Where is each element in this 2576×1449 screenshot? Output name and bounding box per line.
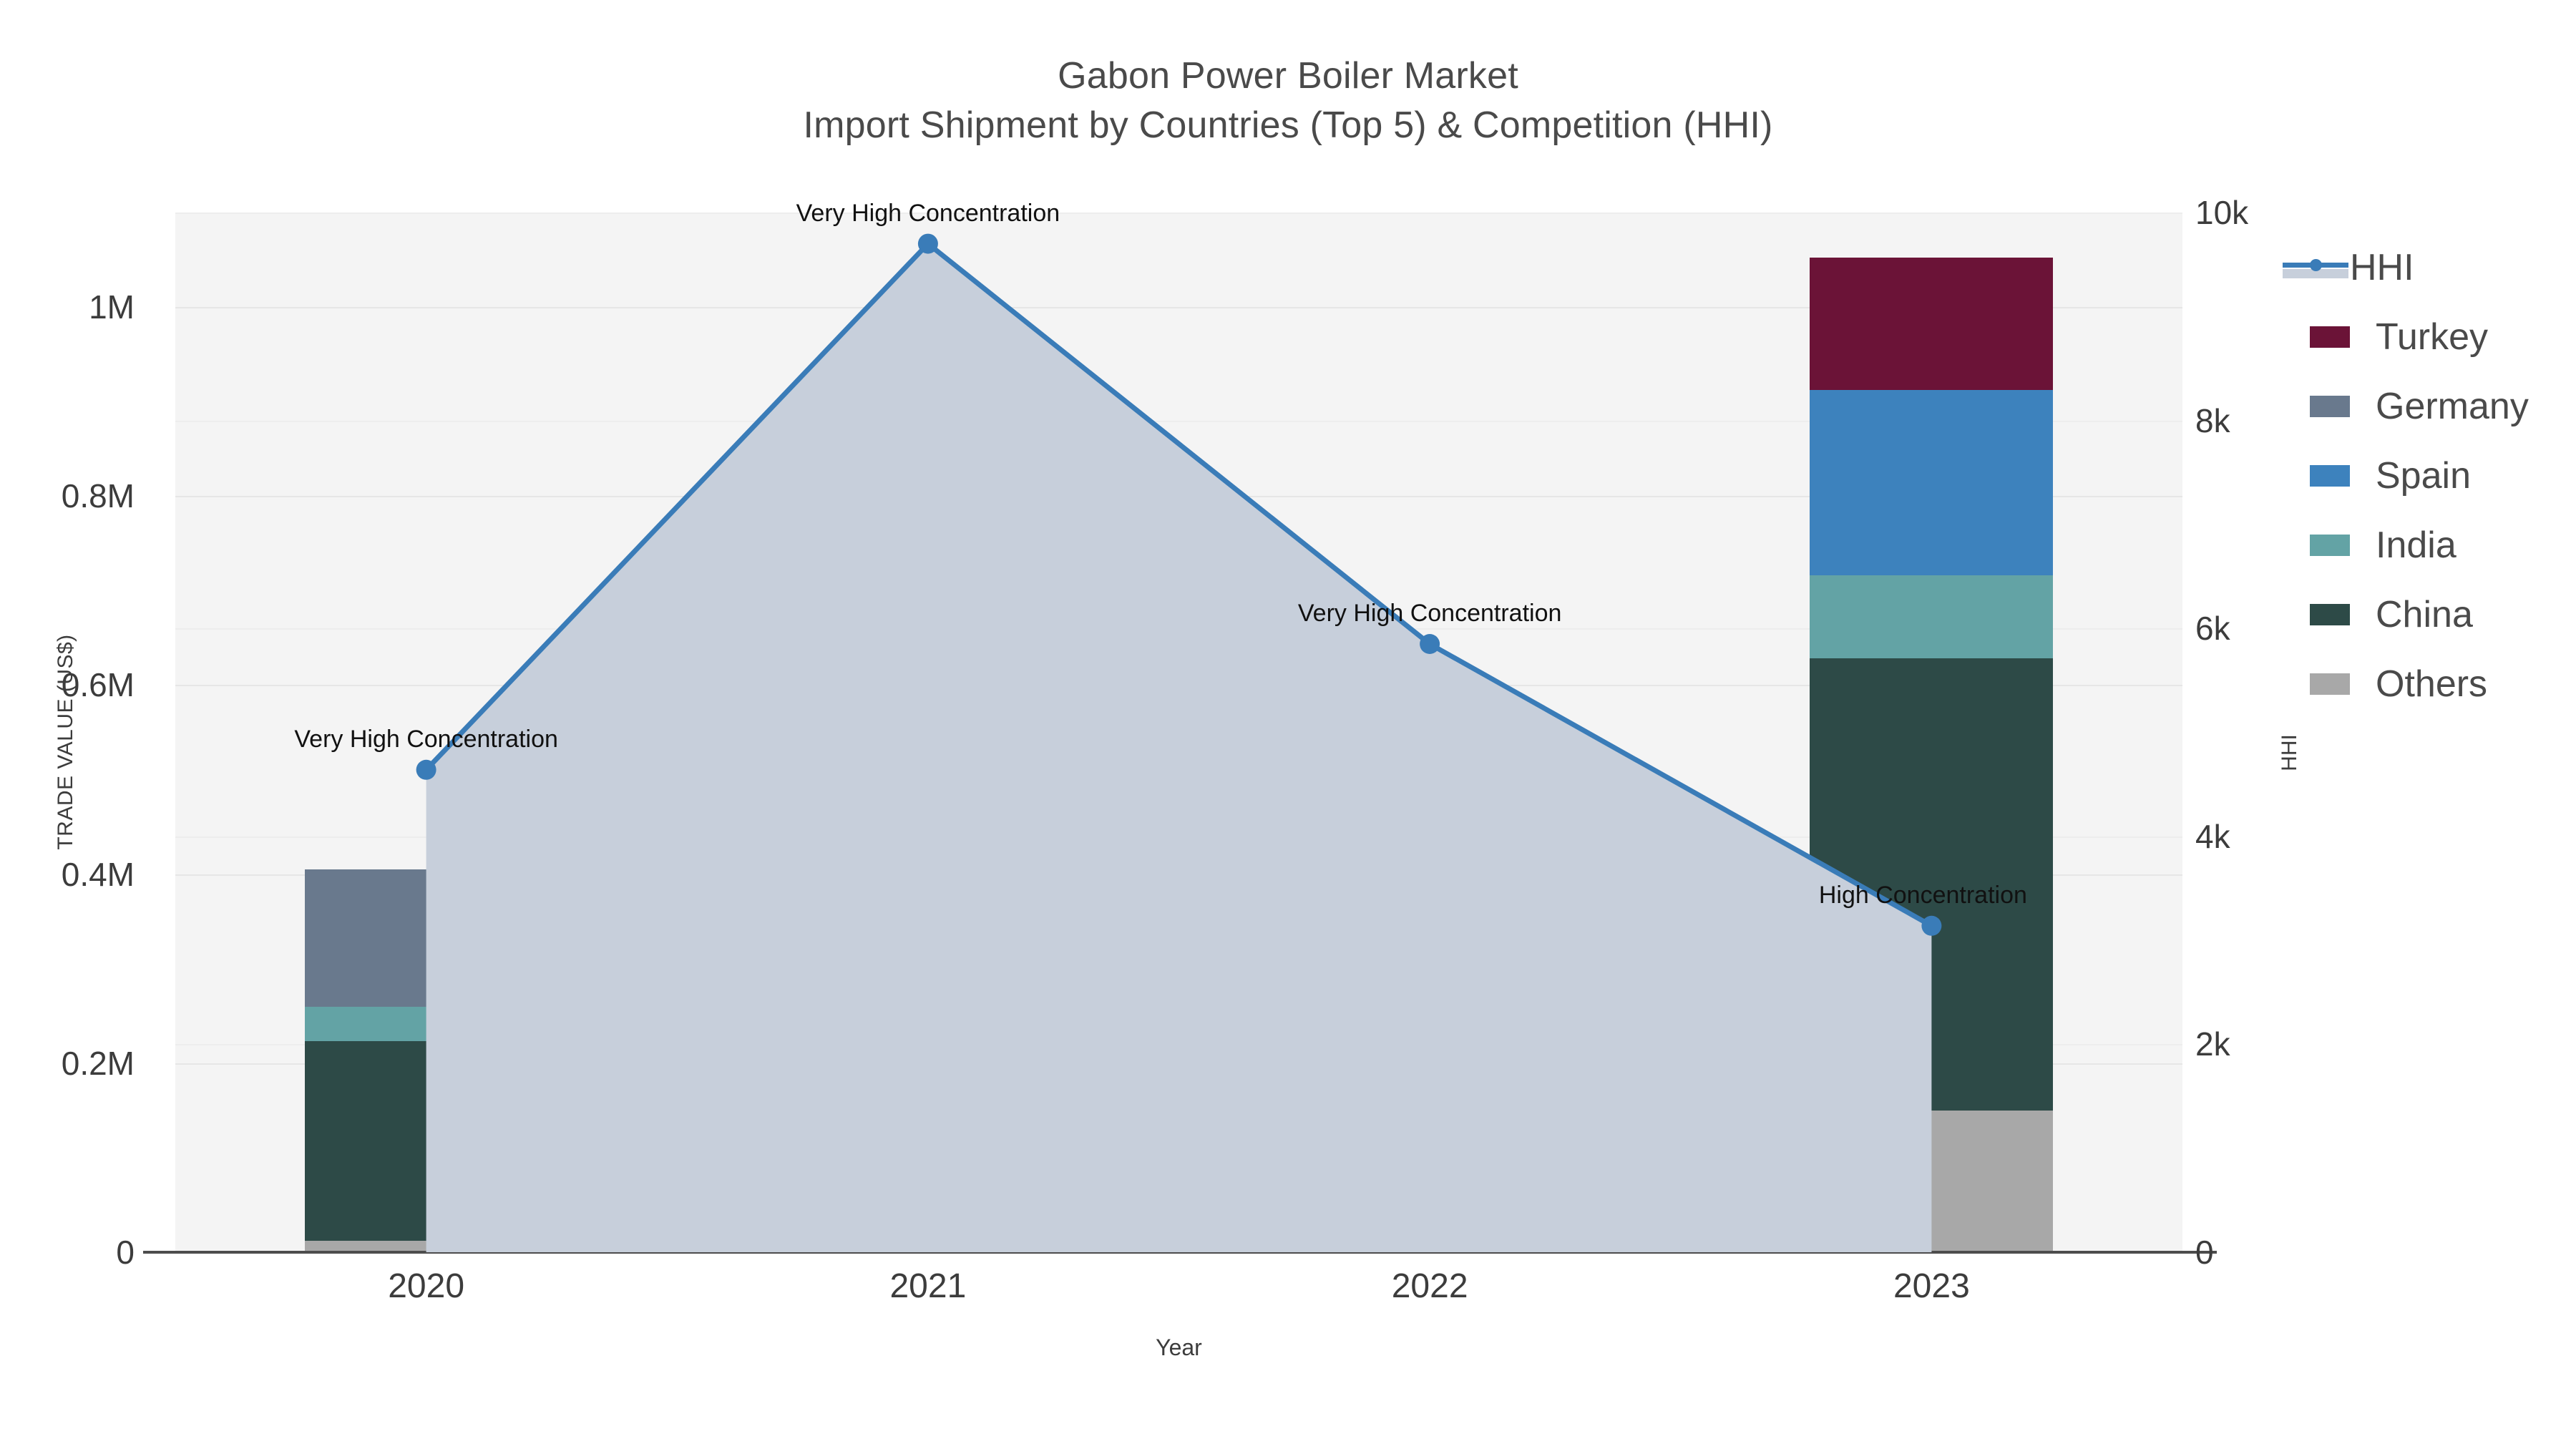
legend-item-label: Germany — [2376, 388, 2529, 425]
x-axis-label: Year — [175, 1335, 2182, 1361]
y-axis-left-tick: 0.2M — [0, 1044, 135, 1083]
y-axis-left-label: TRADE VALUE (US$) — [54, 592, 78, 892]
bar-segment[interactable] — [1810, 390, 2053, 575]
chart-title-block: Gabon Power Boiler Market Import Shipmen… — [0, 52, 2576, 150]
bar-segment[interactable] — [806, 769, 1050, 1252]
x-axis-line — [175, 1251, 2182, 1254]
legend-item[interactable]: China — [2281, 580, 2576, 649]
y-axis-left-tick: 0 — [0, 1233, 135, 1272]
legend-item-label: Spain — [2376, 457, 2471, 494]
x-axis-tick: 2023 — [1788, 1267, 2074, 1306]
hhi-annotation: Very High Concentration — [796, 200, 1060, 228]
legend-item[interactable]: Spain — [2281, 441, 2576, 510]
legend-item[interactable]: India — [2281, 510, 2576, 580]
bar-segment[interactable] — [1810, 258, 2053, 390]
x-axis-left-spur — [143, 1251, 177, 1254]
legend-swatch-icon — [2310, 326, 2350, 348]
legend-item[interactable]: HHI — [2281, 233, 2576, 302]
hhi-annotation: High Concentration — [1819, 882, 2027, 909]
legend-swatch-icon — [2310, 535, 2350, 556]
x-axis-tick: 2022 — [1287, 1267, 1573, 1306]
legend-line-icon — [2281, 255, 2350, 280]
bar-segment[interactable] — [305, 1007, 548, 1042]
legend-item[interactable]: Others — [2281, 649, 2576, 718]
hhi-annotation: Very High Concentration — [1298, 600, 1562, 628]
bar-segment[interactable] — [1308, 1035, 1551, 1250]
bar-segment[interactable] — [1810, 575, 2053, 658]
bar-segment[interactable] — [1810, 1111, 2053, 1252]
legend-swatch-icon — [2310, 604, 2350, 625]
y-axis-left-tick: 1M — [0, 288, 135, 326]
legend-item-label: China — [2376, 596, 2473, 633]
bar-segment[interactable] — [305, 1041, 548, 1241]
y-axis-right-tick: 0 — [2195, 1233, 2367, 1272]
chart-title-line-1: Gabon Power Boiler Market — [0, 52, 2576, 101]
hhi-annotation: Very High Concentration — [294, 726, 558, 753]
y-axis-left-tick: 0.8M — [0, 477, 135, 515]
legend: HHITurkeyGermanySpainIndiaChinaOthers — [2281, 233, 2576, 718]
legend-swatch-icon — [2310, 396, 2350, 417]
legend-item-label: India — [2376, 527, 2457, 564]
legend-item-label: HHI — [2350, 249, 2414, 286]
x-axis-tick: 2021 — [785, 1267, 1071, 1306]
legend-item[interactable]: Germany — [2281, 371, 2576, 441]
legend-swatch-icon — [2310, 465, 2350, 487]
x-axis-tick: 2020 — [283, 1267, 570, 1306]
gridline-right — [175, 213, 2182, 214]
legend-item[interactable]: Turkey — [2281, 302, 2576, 371]
chart-title-line-2: Import Shipment by Countries (Top 5) & C… — [0, 101, 2576, 150]
bar-segment[interactable] — [305, 869, 548, 1007]
legend-item-label: Turkey — [2376, 318, 2488, 356]
legend-swatch-icon — [2310, 673, 2350, 695]
bar-segment[interactable] — [806, 761, 1050, 769]
bar-segment[interactable] — [1308, 923, 1551, 1035]
y-axis-right-tick: 2k — [2195, 1025, 2367, 1063]
legend-item-label: Others — [2376, 665, 2487, 703]
y-axis-right-tick: 10k — [2195, 193, 2367, 232]
